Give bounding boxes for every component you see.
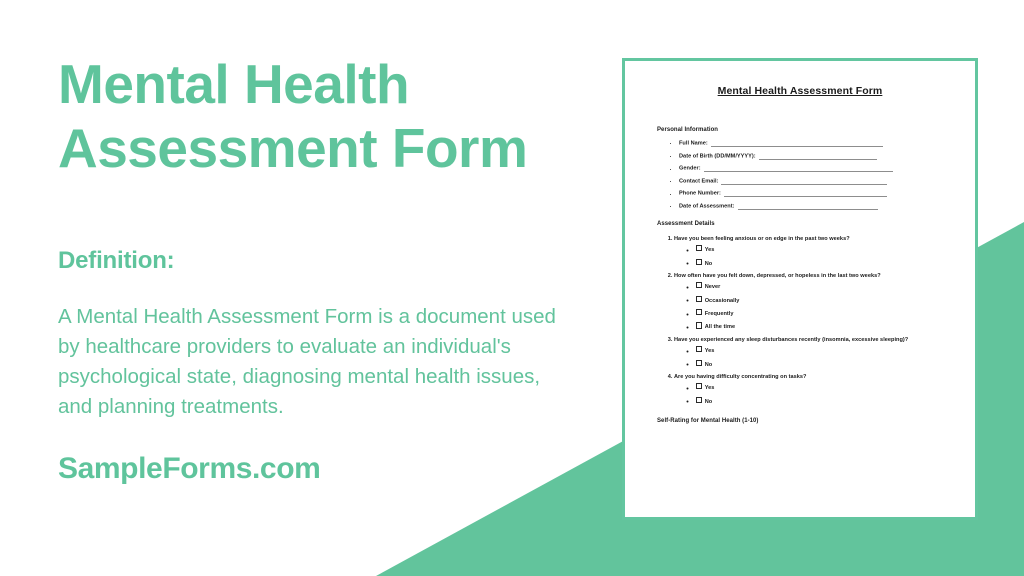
assessment-question-text: Are you having difficulty concentrating …: [674, 374, 806, 380]
assessment-question: How often have you felt down, depressed,…: [674, 272, 953, 331]
assessment-option[interactable]: Yes: [696, 245, 953, 253]
assessment-option-list: YesNo: [674, 245, 953, 267]
form-field-label: Date of Birth (DD/MM/YYYY):: [679, 153, 756, 159]
form-field-row: Phone Number:: [679, 190, 953, 197]
form-heading: Mental Health Assessment Form: [647, 85, 953, 97]
assessment-option[interactable]: Occasionally: [696, 296, 953, 304]
checkbox-icon[interactable]: [696, 296, 702, 302]
slide-canvas: Mental Health Assessment Form Definition…: [0, 0, 1024, 576]
assessment-option-label: All the time: [705, 324, 735, 330]
self-rating-heading: Self-Rating for Mental Health (1-10): [657, 418, 953, 424]
form-field-label: Date of Assessment:: [679, 203, 735, 209]
assessment-option-label: No: [705, 361, 713, 367]
form-field-blank-line[interactable]: [738, 203, 878, 210]
form-field-row: Contact Email:: [679, 178, 953, 185]
checkbox-icon[interactable]: [696, 397, 702, 403]
checkbox-icon[interactable]: [696, 360, 702, 366]
checkbox-icon[interactable]: [696, 383, 702, 389]
form-field-blank-line[interactable]: [724, 190, 887, 197]
assessment-question-text: Have you experienced any sleep disturban…: [674, 337, 908, 343]
assessment-option-list: NeverOccasionallyFrequentlyAll the time: [674, 282, 953, 331]
hero-text-column: Mental Health Assessment Form Definition…: [58, 52, 588, 486]
assessment-option[interactable]: Never: [696, 282, 953, 290]
checkbox-icon[interactable]: [696, 309, 702, 315]
assessment-option-label: Yes: [705, 247, 715, 253]
personal-information-fields: Full Name:Date of Birth (DD/MM/YYYY):Gen…: [657, 140, 953, 210]
assessment-option[interactable]: No: [696, 360, 953, 368]
form-field-blank-line[interactable]: [704, 165, 893, 172]
form-field-row: Full Name:: [679, 140, 953, 147]
assessment-option[interactable]: Yes: [696, 346, 953, 354]
assessment-question-text: Have you been feeling anxious or on edge…: [674, 236, 850, 242]
assessment-option-label: Occasionally: [705, 297, 740, 303]
assessment-option[interactable]: All the time: [696, 322, 953, 330]
form-field-row: Date of Birth (DD/MM/YYYY):: [679, 153, 953, 160]
form-field-row: Gender:: [679, 165, 953, 172]
form-field-label: Full Name:: [679, 140, 708, 146]
form-field-blank-line[interactable]: [759, 153, 877, 160]
assessment-details-heading: Assessment Details: [657, 221, 953, 227]
checkbox-icon[interactable]: [696, 282, 702, 288]
page-title: Mental Health Assessment Form: [58, 52, 588, 181]
definition-body: A Mental Health Assessment Form is a doc…: [58, 302, 573, 423]
assessment-option-label: Yes: [705, 385, 715, 391]
assessment-question: Have you experienced any sleep disturban…: [674, 336, 953, 368]
assessment-option[interactable]: No: [696, 259, 953, 267]
form-field-row: Date of Assessment:: [679, 203, 953, 210]
assessment-question-text: How often have you felt down, depressed,…: [674, 273, 881, 279]
assessment-option-label: No: [705, 260, 713, 266]
form-field-label: Contact Email:: [679, 178, 718, 184]
form-preview-card[interactable]: Mental Health Assessment Form Personal I…: [622, 58, 978, 520]
assessment-option[interactable]: Yes: [696, 383, 953, 391]
form-field-label: Phone Number:: [679, 191, 721, 197]
assessment-questions-list: Have you been feeling anxious or on edge…: [657, 235, 953, 405]
assessment-option-list: YesNo: [674, 346, 953, 368]
assessment-question: Are you having difficulty concentrating …: [674, 373, 953, 405]
checkbox-icon[interactable]: [696, 322, 702, 328]
personal-information-heading: Personal Information: [657, 127, 953, 133]
checkbox-icon[interactable]: [696, 245, 702, 251]
brand-wordmark: SampleForms.com: [58, 452, 588, 486]
assessment-option-label: Never: [705, 284, 721, 290]
assessment-question: Have you been feeling anxious or on edge…: [674, 235, 953, 267]
assessment-option-label: Yes: [705, 348, 715, 354]
assessment-option[interactable]: Frequently: [696, 309, 953, 317]
assessment-option[interactable]: No: [696, 397, 953, 405]
form-field-label: Gender:: [679, 166, 701, 172]
assessment-option-label: Frequently: [705, 311, 734, 317]
assessment-option-list: YesNo: [674, 383, 953, 405]
form-field-blank-line[interactable]: [721, 178, 887, 185]
definition-label: Definition:: [58, 247, 588, 275]
form-field-blank-line[interactable]: [711, 140, 883, 147]
checkbox-icon[interactable]: [696, 259, 702, 265]
checkbox-icon[interactable]: [696, 346, 702, 352]
form-document-body: Mental Health Assessment Form Personal I…: [625, 61, 975, 424]
assessment-option-label: No: [705, 398, 713, 404]
